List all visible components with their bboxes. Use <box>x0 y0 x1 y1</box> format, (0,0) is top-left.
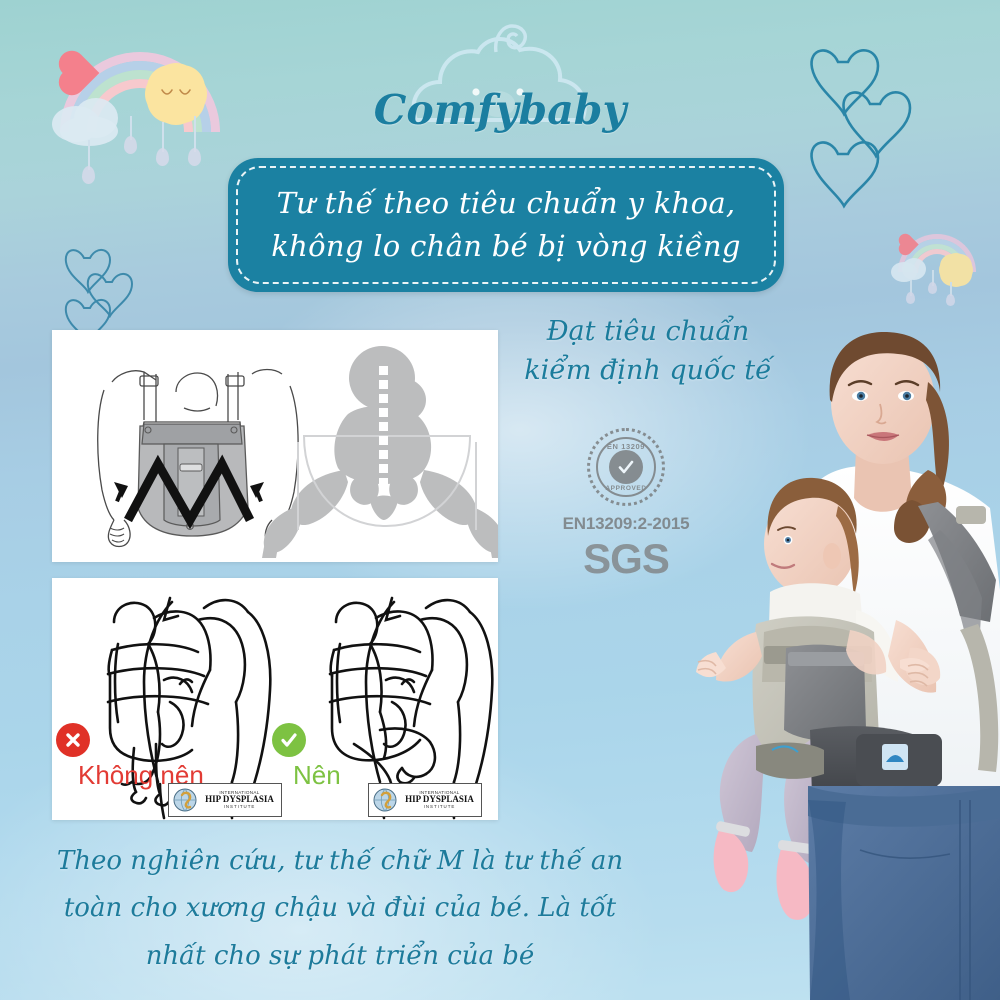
x-mark-icon <box>56 723 90 757</box>
headline-banner-text: Tư thế theo tiêu chuẩn y khoa, không lo … <box>228 158 784 292</box>
ihdi-line-3: INSTITUTE <box>201 805 278 810</box>
subheadline: Đạt tiêu chuẩn kiểm định quốc tế <box>498 312 798 390</box>
brand-logo: Comfybaby <box>0 12 1000 131</box>
headline-line-1: Tư thế theo tiêu chuẩn y khoa, <box>277 182 736 226</box>
ihdi-text: INTERNATIONAL HIP DYSPLASIA INSTITUTE <box>401 791 478 810</box>
hip-dysplasia-institute-logo-right: INTERNATIONAL HIP DYSPLASIA INSTITUTE <box>368 783 482 817</box>
check-mark-icon <box>272 723 306 757</box>
footer-description: Theo nghiên cứu, tư thế chữ M là tư thế … <box>30 838 650 980</box>
globe-baby-icon <box>172 787 198 813</box>
footer-line-3: nhất cho sự phát triển của bé <box>30 933 650 980</box>
subheadline-line-2: kiểm định quốc tế <box>498 351 798 390</box>
rainbow-cloud-sun-icon-right <box>886 226 986 306</box>
en13209-approved-seal: EN 13209 APPROVED <box>587 428 665 506</box>
headline-banner: Tư thế theo tiêu chuẩn y khoa, không lo … <box>228 158 784 292</box>
seal-top-text: EN 13209 <box>598 442 654 451</box>
label-recommended: Nên <box>293 760 341 791</box>
ihdi-line-3: INSTITUTE <box>401 805 478 810</box>
footer-line-1: Theo nghiên cứu, tư thế chữ M là tư thế … <box>30 838 650 885</box>
certification-group: EN 13209 APPROVED EN13209:2-2015 SGS <box>540 428 712 580</box>
standard-code: EN13209:2-2015 <box>540 514 712 534</box>
brand-name: Comfybaby <box>0 12 1000 131</box>
globe-baby-icon <box>372 787 398 813</box>
ihdi-text: INTERNATIONAL HIP DYSPLASIA INSTITUTE <box>201 791 278 810</box>
footer-line-2: toàn cho xương chậu và đùi của bé. Là tố… <box>30 885 650 932</box>
sgs-logo: SGS <box>540 538 712 580</box>
checkmark-icon <box>609 450 643 484</box>
m-position-carrier-diagram-panel <box>52 330 498 562</box>
seal-bottom-text: APPROVED <box>598 485 654 492</box>
headline-line-2: không lo chân bé bị vòng kiềng <box>271 225 740 269</box>
subheadline-line-1: Đạt tiêu chuẩn <box>498 312 798 351</box>
hip-dysplasia-institute-logo-left: INTERNATIONAL HIP DYSPLASIA INSTITUTE <box>168 783 282 817</box>
